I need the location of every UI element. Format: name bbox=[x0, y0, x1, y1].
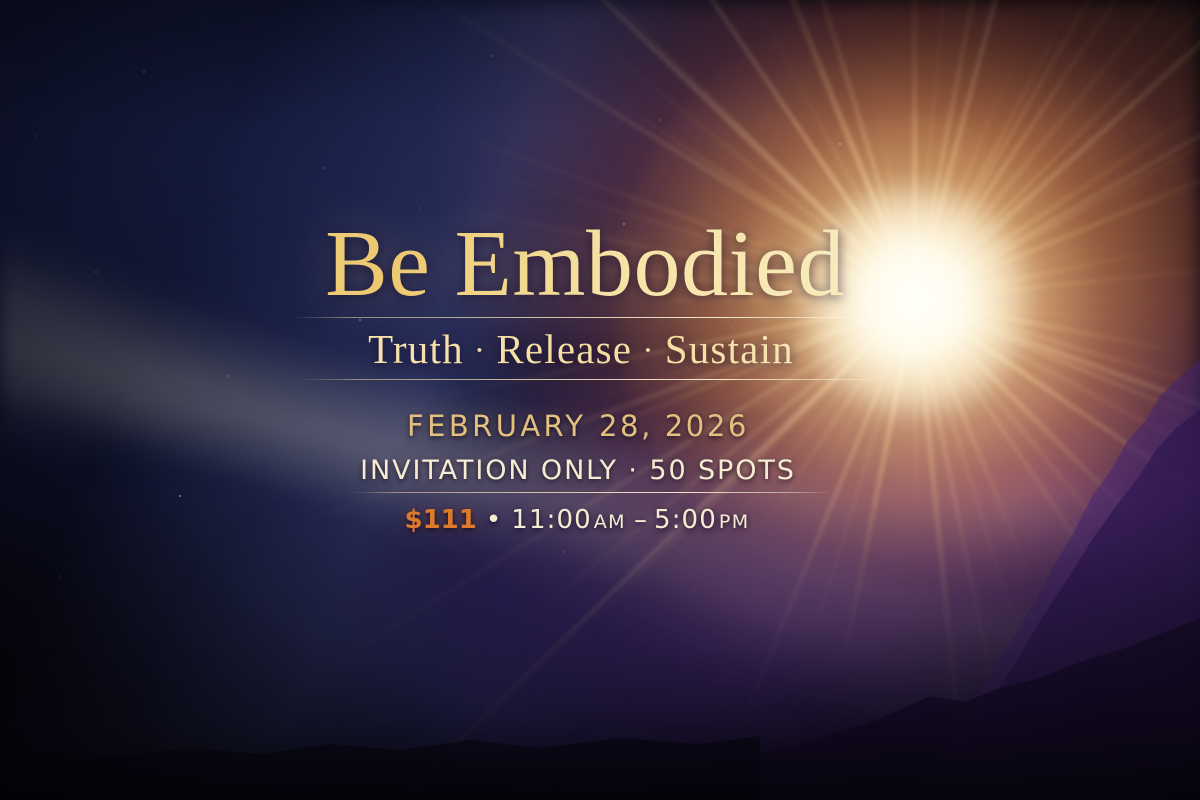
subtitle-word-release: Release bbox=[496, 326, 632, 372]
event-date-month: FEBRUARY bbox=[407, 409, 586, 443]
poster-title: Be Embodied bbox=[0, 216, 1185, 314]
event-date-day-year: 28, 2026 bbox=[599, 409, 749, 443]
divider-rule-top bbox=[292, 317, 898, 318]
subtitle-separator-2: · bbox=[632, 332, 665, 369]
subtitle-separator-1: · bbox=[464, 332, 497, 369]
subtitle-word-truth: Truth bbox=[368, 326, 464, 372]
event-price: $111 bbox=[404, 505, 476, 535]
event-end-time: 5:00 bbox=[654, 505, 717, 535]
event-poster: Be Embodied Truth·Release·Sustain FEBRUA… bbox=[0, 0, 1200, 800]
event-date: FEBRUARY 28, 2026 bbox=[0, 409, 1178, 443]
event-price-and-time: $111•11:00AM–5:00PM bbox=[0, 505, 1178, 535]
event-start-meridiem: AM bbox=[592, 511, 628, 533]
time-range-dash: – bbox=[628, 505, 654, 535]
poster-subtitle: Truth·Release·Sustain bbox=[0, 325, 1181, 373]
poster-content: Be Embodied Truth·Release·Sustain FEBRUA… bbox=[0, 0, 1200, 800]
price-time-separator: • bbox=[477, 505, 511, 535]
event-end-meridiem: PM bbox=[717, 511, 752, 533]
event-start-time: 11:00 bbox=[511, 505, 591, 535]
divider-rule-middle bbox=[300, 379, 890, 380]
divider-rule-bottom bbox=[350, 492, 832, 493]
subtitle-word-sustain: Sustain bbox=[665, 326, 794, 372]
event-access-note: INVITATION ONLY · 50 SPOTS bbox=[0, 455, 1178, 486]
